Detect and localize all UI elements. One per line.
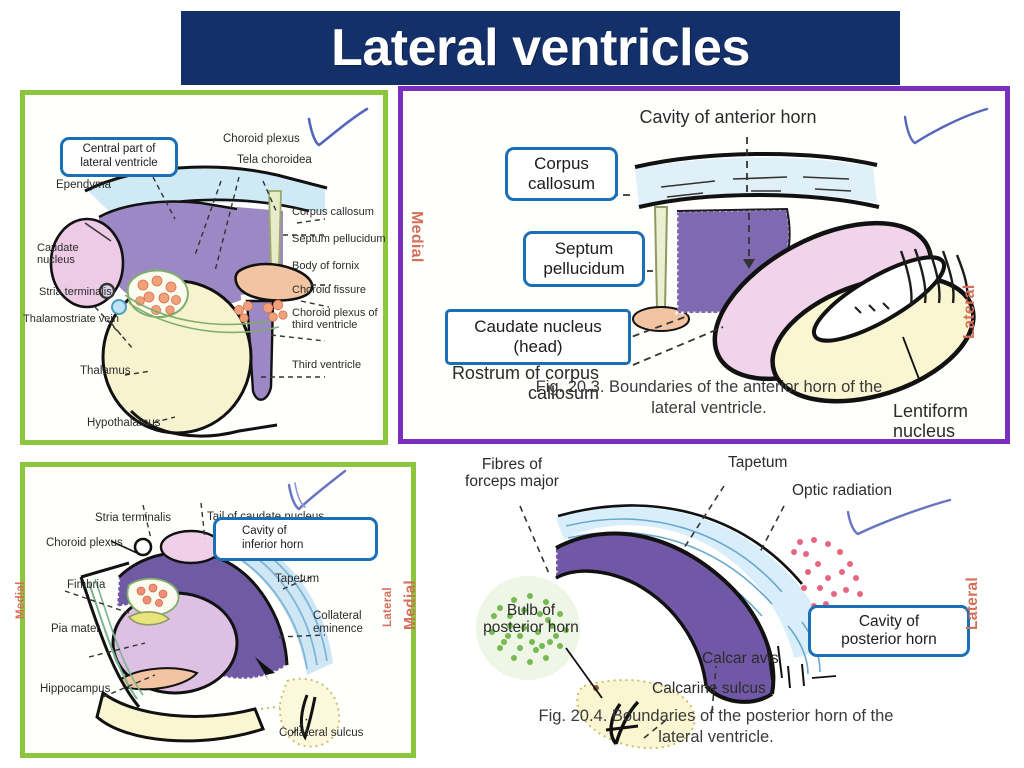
label-choroid-plexus: Choroid plexus (223, 133, 300, 146)
check-mark-icon (901, 107, 991, 151)
label-calcarine-sulcus: Calcarine sulcus (652, 680, 766, 697)
orientation-lateral: Lateral (382, 587, 394, 627)
callout-central-part-of-lateral-ventricle[interactable]: Central part of lateral ventricle (60, 137, 178, 177)
check-mark-icon (303, 105, 373, 149)
check-mark-icon (844, 498, 954, 538)
label-optic-radiation: Optic radiation (792, 482, 892, 499)
label-septum-pellucidum: Septum pellucidum (292, 233, 386, 245)
orientation-lateral: Lateral (961, 284, 979, 339)
label-stria-terminalis: Stria terminalis (95, 512, 171, 525)
check-mark-icon (283, 469, 353, 513)
callout-cavity-of-inferior-horn[interactable]: Cavity of inferior horn (213, 517, 378, 561)
label-pia-mater: Pia mater (51, 623, 100, 636)
label-third-ventricle: Third ventricle (292, 359, 361, 371)
label-thalamostriate-vein: Thalamostriate vein (23, 313, 119, 325)
label-body-of-fornix: Body of fornix (292, 260, 359, 272)
callout-caudate-nucleus-head[interactable]: Caudate nucleus (head) (445, 309, 631, 365)
page-title: Lateral ventricles (331, 22, 750, 74)
label-caudate-nucleus: Caudate nucleus (37, 242, 79, 267)
figure-caption-20-4: Fig. 20.4. Boundaries of the posterior h… (446, 706, 986, 749)
callout-corpus-callosum[interactable]: Corpus callosum (505, 147, 618, 201)
slide-title-banner: Lateral ventricles (181, 11, 900, 85)
label-bulb-of-posterior-horn: Bulb of posterior horn (456, 602, 606, 637)
orientation-lateral: Lateral (964, 577, 982, 630)
label-choroid-plexus: Choroid plexus (46, 537, 123, 550)
label-tela-choroidea: Tela choroidea (237, 154, 312, 167)
panel-central-part-lateral-ventricle: Choroid plexus Tela choroidea Ependyma C… (20, 90, 388, 445)
label-stria-terminalis: Stria terminalis (39, 286, 112, 298)
label-calcar-avis: Calcar avis (702, 650, 779, 667)
callout-septum-pellucidum[interactable]: Septum pellucidum (523, 231, 645, 287)
label-fibres-of-forceps-major: Fibres of forceps major (442, 456, 582, 491)
orientation-medial: Medial (407, 211, 425, 263)
label-choroid-plexus-third-ventricle: Choroid plexus of third ventricle (292, 307, 378, 332)
label-corpus-callosum: Corpus callosum (292, 206, 374, 218)
orientation-medial: Medial (15, 581, 27, 619)
label-choroid-fissure: Choroid fissure (292, 284, 366, 296)
label-hippocampus: Hippocampus (40, 683, 110, 696)
label-ependyma: Ependyma (56, 179, 111, 192)
callout-cavity-of-posterior-horn[interactable]: Cavity of posterior horn (808, 605, 970, 657)
label-thalamus: Thalamus (80, 365, 131, 378)
label-tapetum: Tapetum (275, 573, 319, 586)
panel-posterior-horn: Fibres of forceps major Tapetum Optic ra… (416, 450, 1016, 758)
slide-root: Lateral ventricles (0, 0, 1024, 768)
label-collateral-eminence: Collateral eminence (313, 610, 363, 636)
panel-anterior-horn: Cavity of anterior horn Rostrum of corpu… (398, 86, 1010, 444)
orientation-medial: Medial (402, 580, 420, 630)
label-hypothalamus: Hypothalamus (87, 417, 161, 430)
figure-caption-20-3: Fig. 20.3. Boundaries of the anterior ho… (423, 377, 995, 420)
panel-inferior-horn: Stria terminalis Tail of caudate nucleus… (20, 462, 416, 758)
label-cavity-of-anterior-horn: Cavity of anterior horn (603, 107, 853, 127)
label-tapetum: Tapetum (728, 454, 787, 471)
label-collateral-sulcus: Collateral sulcus (279, 727, 363, 740)
label-fimbria: Fimbria (67, 579, 105, 592)
